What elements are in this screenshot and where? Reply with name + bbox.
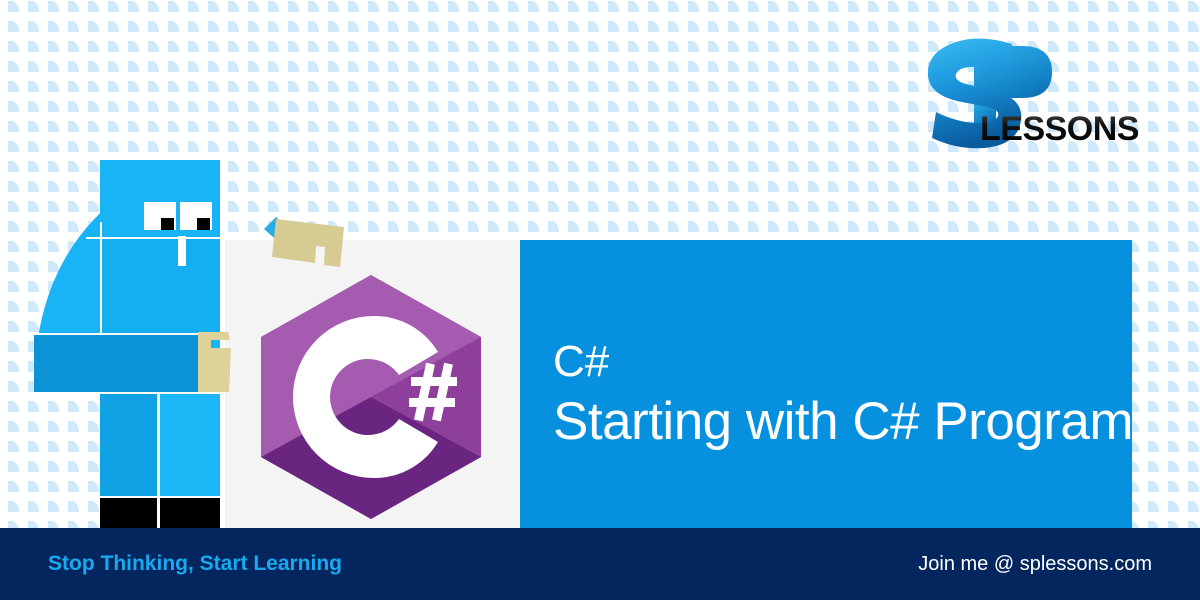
- footer-tagline: Stop Thinking, Start Learning: [48, 552, 342, 576]
- page-title: C# Starting with C# Program: [553, 335, 1133, 455]
- svg-text:LESSONS: LESSONS: [980, 110, 1139, 148]
- page-title-line-2: Starting with C# Program: [553, 389, 1133, 455]
- csharp-hexagon-logo-icon: [256, 272, 486, 522]
- footer-join-text: Join me @ splessons.com: [918, 553, 1152, 576]
- paper-note-shape-icon: [258, 213, 354, 269]
- footer-bar: Stop Thinking, Start Learning Join me @ …: [0, 528, 1200, 600]
- splessons-logo-icon: LESSONS: [918, 28, 1142, 152]
- page-title-line-1: C#: [553, 335, 1133, 389]
- flat-blue-person-illustration-icon: [28, 160, 258, 532]
- course-banner: C# Starting with C# Program: [0, 0, 1200, 600]
